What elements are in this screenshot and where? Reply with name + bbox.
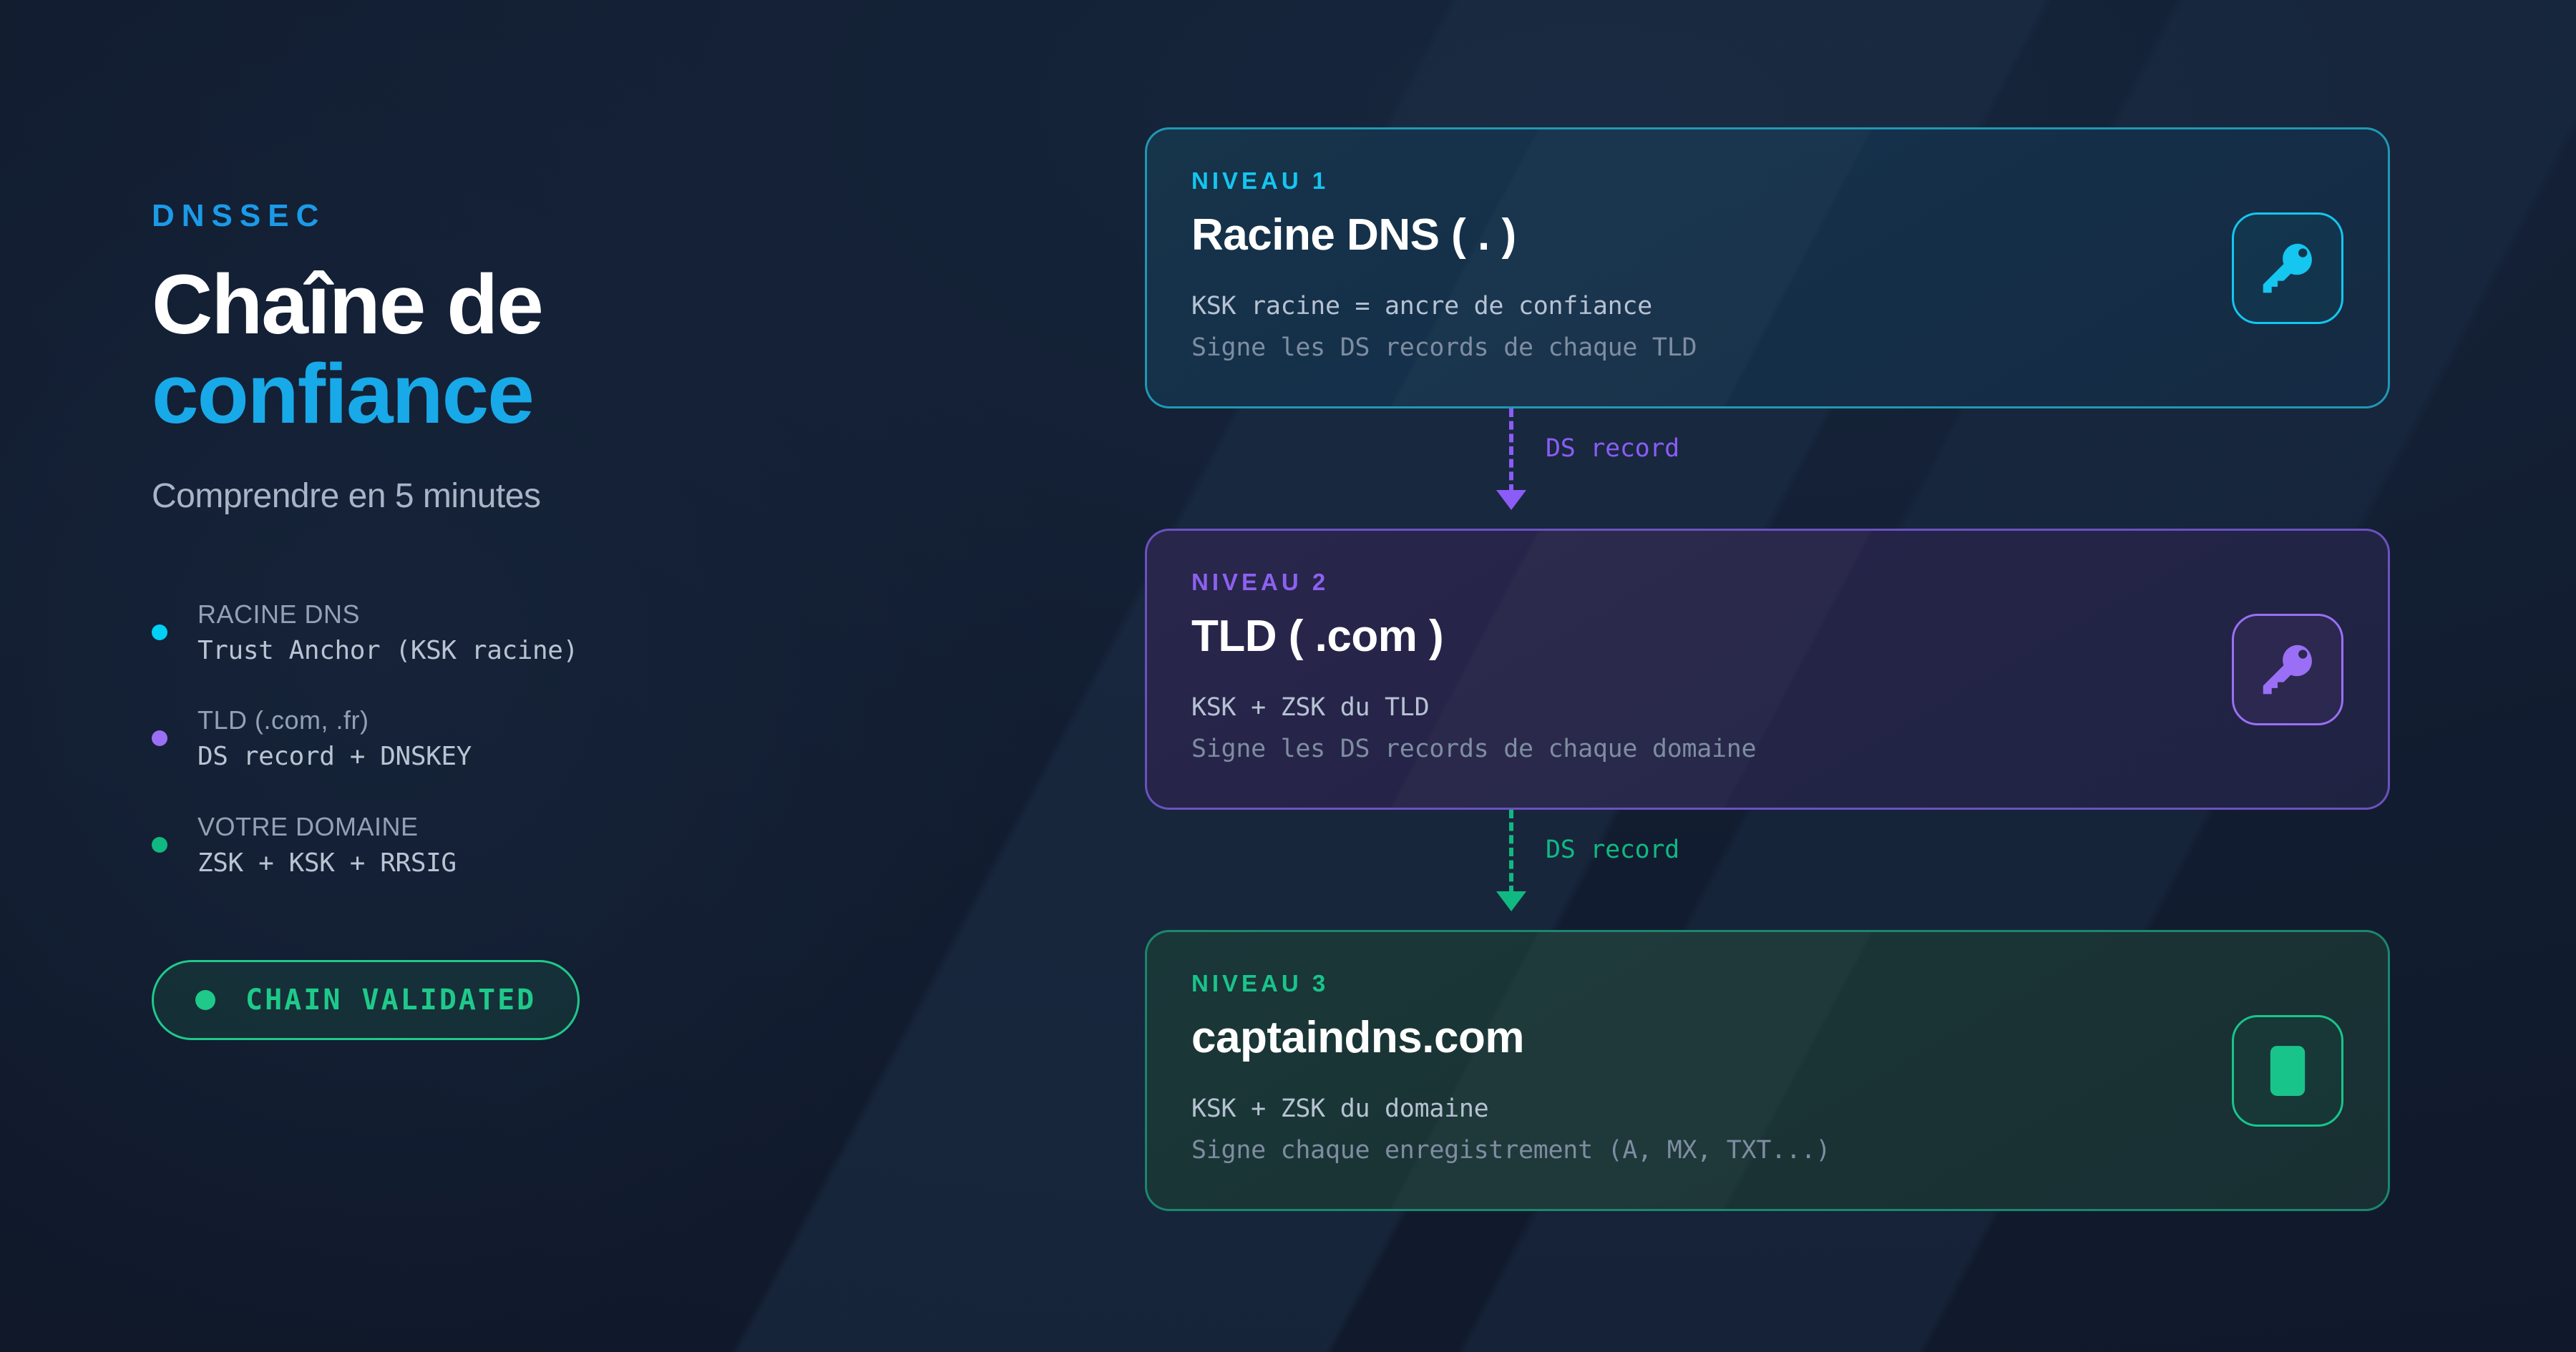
chain-card-level-1: NIVEAU 1 Racine DNS ( . ) KSK racine = a… [1145, 127, 2390, 408]
connector-line [1509, 810, 1513, 894]
bullet-dot-purple [152, 730, 167, 746]
key-icon [2257, 237, 2318, 299]
chain-card-level-3: NIVEAU 3 captaindns.com KSK + ZSK du dom… [1145, 930, 2390, 1211]
eyebrow-label: DNSSEC [152, 200, 1145, 232]
headline-line-1: Chaîne de [152, 258, 542, 352]
page-title: Chaîne de confiance [152, 260, 1145, 439]
status-dot-icon [195, 990, 215, 1010]
trust-chain: NIVEAU 1 Racine DNS ( . ) KSK racine = a… [1145, 127, 2390, 1211]
bullet-list: RACINE DNS Trust Anchor (KSK racine) TLD… [152, 596, 1145, 881]
status-badge-label: CHAIN VALIDATED [245, 984, 536, 1017]
connector-line [1509, 408, 1513, 493]
connector-label: DS record [1546, 434, 1679, 463]
arrow-down-icon [1496, 490, 1526, 510]
card-title: TLD ( .com ) [1191, 612, 1756, 661]
card-icon-badge [2232, 614, 2343, 725]
chain-panel: NIVEAU 1 Racine DNS ( . ) KSK racine = a… [1145, 0, 2576, 1352]
chain-connector-1-2: DS record [1145, 408, 2390, 529]
list-item-detail: DS record + DNSKEY [197, 738, 472, 775]
card-title: captaindns.com [1191, 1014, 1830, 1062]
infographic-root: DNSSEC Chaîne de confiance Comprendre en… [0, 0, 2576, 1352]
card-level-label: NIVEAU 2 [1191, 570, 1756, 594]
card-title: Racine DNS ( . ) [1191, 211, 1697, 260]
headline-line-2: confiance [152, 350, 1145, 439]
card-level-label: NIVEAU 1 [1191, 169, 1697, 192]
list-item-detail: Trust Anchor (KSK racine) [197, 632, 578, 669]
card-detail-secondary: Signe les DS records de chaque TLD [1191, 329, 1697, 367]
list-item: VOTRE DOMAINE ZSK + KSK + RRSIG [152, 808, 1145, 881]
chain-card-level-2: NIVEAU 2 TLD ( .com ) KSK + ZSK du TLD S… [1145, 529, 2390, 810]
rounded-square-icon [2257, 1040, 2318, 1102]
card-icon-badge [2232, 212, 2343, 324]
subtitle: Comprendre en 5 minutes [152, 476, 1145, 516]
bullet-dot-cyan [152, 624, 167, 640]
list-item-title: VOTRE DOMAINE [197, 808, 457, 845]
card-detail-secondary: Signe chaque enregistrement (A, MX, TXT.… [1191, 1132, 1830, 1170]
arrow-down-icon [1496, 891, 1526, 911]
bullet-dot-green [152, 837, 167, 853]
status-badge: CHAIN VALIDATED [152, 960, 580, 1040]
card-detail-primary: KSK + ZSK du TLD [1191, 689, 1756, 727]
list-item: RACINE DNS Trust Anchor (KSK racine) [152, 596, 1145, 669]
card-detail-primary: KSK + ZSK du domaine [1191, 1090, 1830, 1128]
chain-connector-2-3: DS record [1145, 810, 2390, 930]
list-item: TLD (.com, .fr) DS record + DNSKEY [152, 702, 1145, 775]
card-detail-secondary: Signe les DS records de chaque domaine [1191, 730, 1756, 768]
card-level-label: NIVEAU 3 [1191, 971, 1830, 995]
left-panel: DNSSEC Chaîne de confiance Comprendre en… [0, 0, 1145, 1352]
list-item-title: RACINE DNS [197, 596, 578, 632]
key-icon [2257, 639, 2318, 700]
card-icon-badge [2232, 1015, 2343, 1127]
card-detail-primary: KSK racine = ancre de confiance [1191, 288, 1697, 325]
list-item-detail: ZSK + KSK + RRSIG [197, 845, 457, 881]
connector-label: DS record [1546, 836, 1679, 864]
list-item-title: TLD (.com, .fr) [197, 702, 472, 738]
